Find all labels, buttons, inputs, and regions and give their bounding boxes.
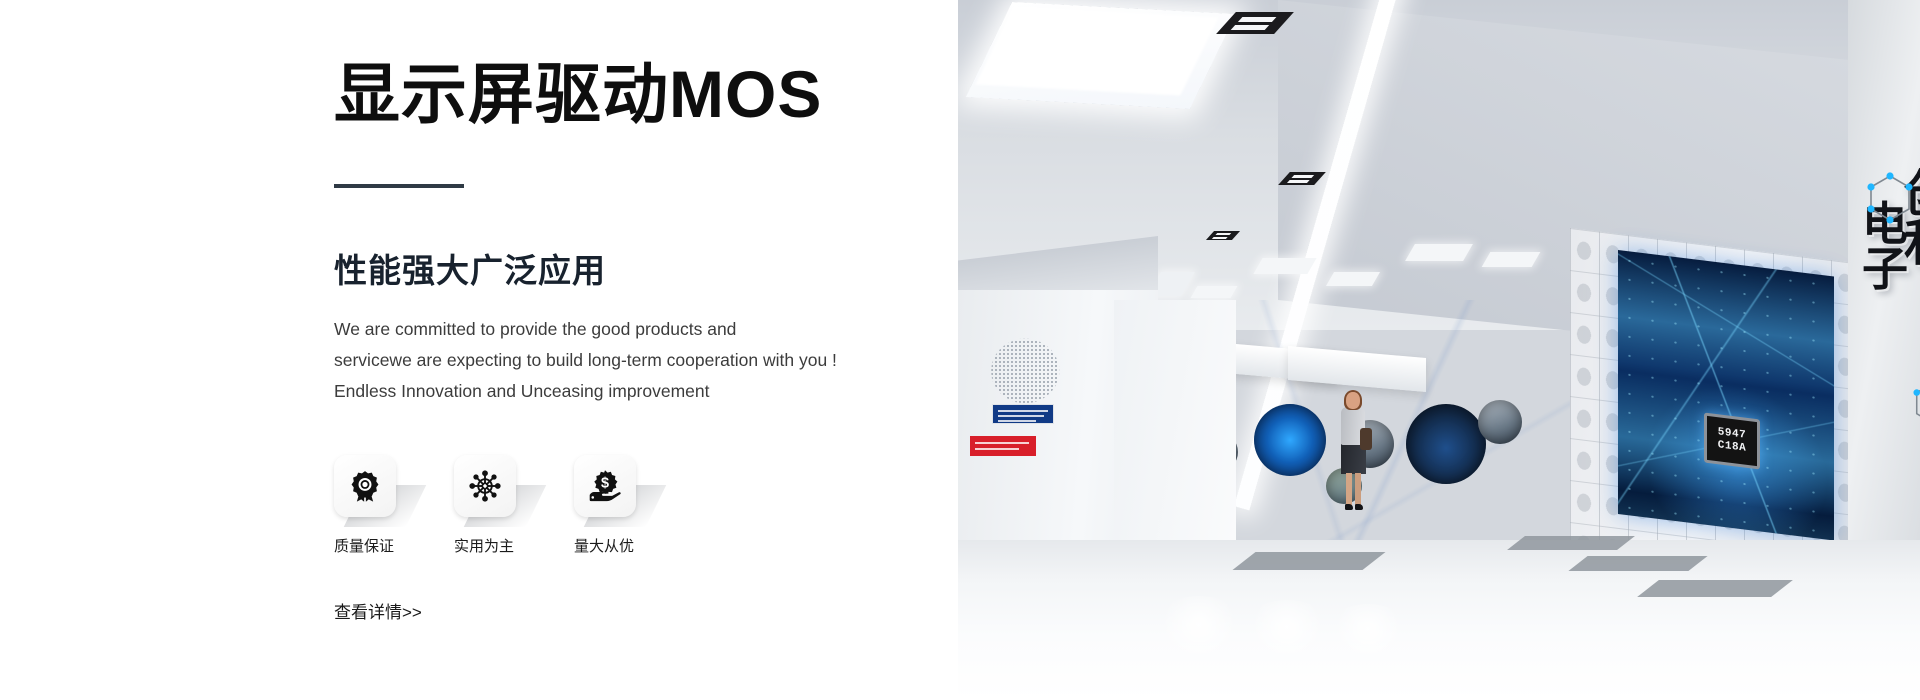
wall-medallion-chip	[1406, 404, 1486, 484]
feature-icon-wrap: $	[574, 455, 636, 517]
feature-list: 质量保证	[334, 455, 894, 556]
award-badge-icon	[334, 455, 396, 517]
hexagon-molecule-icon	[1864, 172, 1916, 230]
showroom-interior-photo: 5947 C18A 电 子 创 和	[958, 0, 1920, 700]
network-hub-icon	[454, 455, 516, 517]
wall-medallion	[1478, 400, 1522, 444]
feature-label: 量大从优	[574, 535, 636, 556]
view-details-link[interactable]: 查看详情>> 查看详情>>	[334, 598, 422, 623]
person-woman	[1330, 392, 1376, 514]
banner-subtitle: 性能强大广泛应用	[334, 244, 894, 292]
ceiling-light-panel	[1482, 252, 1541, 267]
feature-icon-wrap	[454, 455, 516, 517]
feature-item-quality[interactable]: 质量保证	[334, 455, 396, 556]
ceiling-light-panel	[1326, 272, 1380, 286]
title-divider	[334, 184, 464, 188]
floor-inset-strip	[1232, 552, 1385, 570]
description-line-3: Endless Innovation and Unceasing improve…	[334, 376, 894, 407]
feature-label: 实用为主	[454, 535, 516, 556]
floor-reflection	[1244, 600, 1330, 654]
wall-sign-blue	[992, 404, 1054, 424]
wall-medallion-chip	[1254, 404, 1326, 476]
dotted-map-graphic	[982, 332, 1078, 410]
led-sparks	[1618, 250, 1834, 541]
cta-label: 查看详情>>	[334, 603, 422, 622]
description-line-2: servicewe are expecting to build long-te…	[334, 345, 894, 376]
floor-inset-strip	[1507, 536, 1635, 550]
floor-reflection	[1328, 604, 1408, 654]
skylight-panel-inner	[976, 6, 1219, 95]
banner-content: 显示屏驱动MOS 性能强大广泛应用 We are committed to pr…	[334, 58, 894, 623]
hero-banner: 显示屏驱动MOS 性能强大广泛应用 We are committed to pr…	[0, 0, 1920, 700]
ceiling-light-panel	[1405, 244, 1473, 261]
chip-graphic: 5947 C18A	[1704, 413, 1760, 470]
ceiling-light-panel	[1191, 286, 1238, 298]
signage-char: 子	[1862, 247, 1908, 292]
ceiling-light-panel	[1253, 258, 1316, 274]
feature-item-bulk-discount[interactable]: $ 量大从优	[574, 455, 636, 556]
feature-item-practical[interactable]: 实用为主	[454, 455, 516, 556]
white-partition	[1114, 300, 1236, 552]
floor-inset-strip	[1637, 580, 1793, 597]
feature-icon-wrap	[334, 455, 396, 517]
wall-sign-red	[970, 436, 1036, 456]
floor-reflection	[1154, 596, 1244, 654]
led-video-wall: 5947 C18A	[1618, 250, 1834, 541]
svg-text:$: $	[601, 475, 609, 491]
floor	[958, 540, 1920, 700]
chip-text-line-2: C18A	[1718, 439, 1746, 454]
hexagon-molecule-icon	[1910, 378, 1920, 434]
page-title: 显示屏驱动MOS	[334, 58, 894, 132]
floor-inset-strip	[1568, 556, 1707, 571]
banner-description: We are committed to provide the good pro…	[334, 314, 894, 407]
description-line-1: We are committed to provide the good pro…	[334, 314, 894, 345]
banner-text-panel: 显示屏驱动MOS 性能强大广泛应用 We are committed to pr…	[0, 0, 958, 700]
hand-money-icon: $	[574, 455, 636, 517]
feature-label: 质量保证	[334, 535, 396, 556]
